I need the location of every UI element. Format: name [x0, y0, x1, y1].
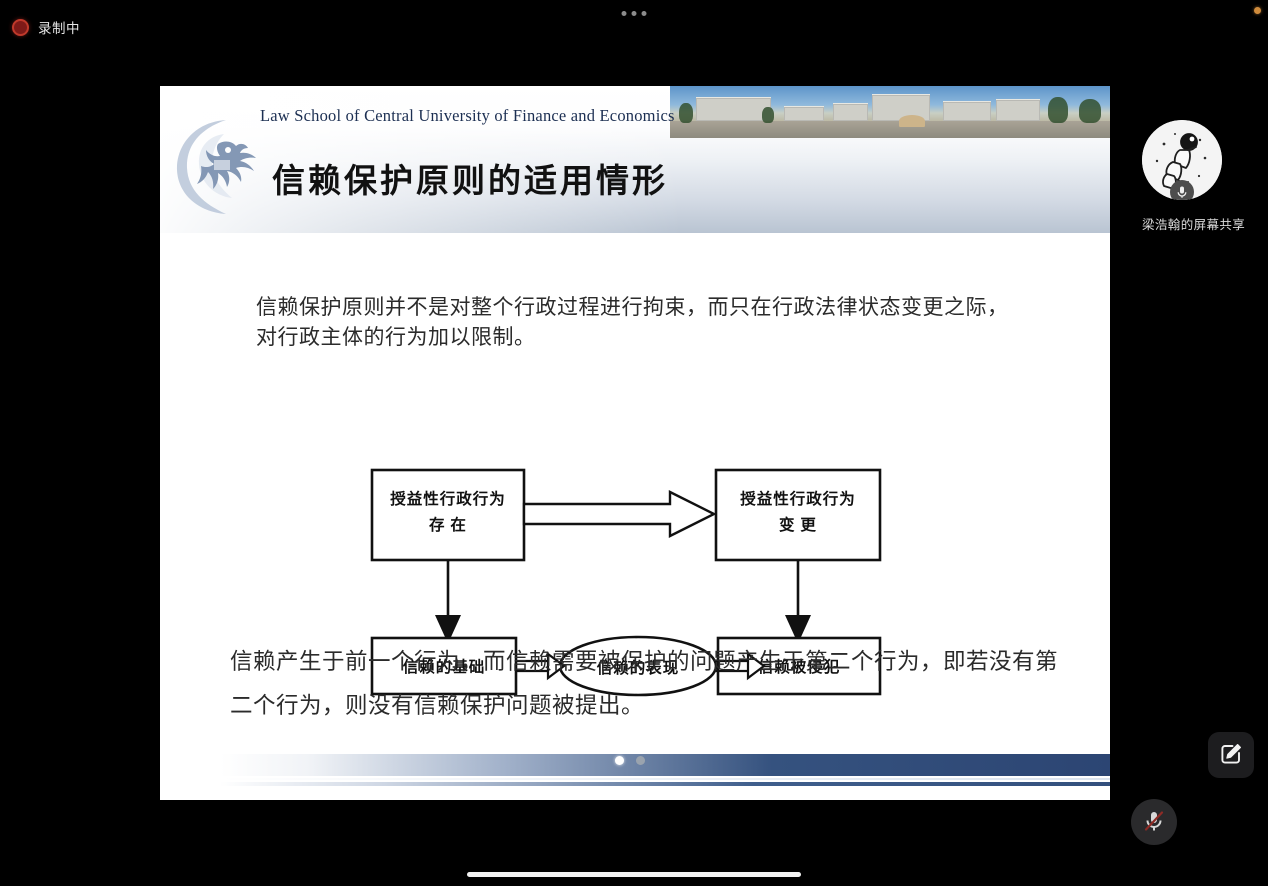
campus-monument [899, 115, 925, 127]
footer-hairline [220, 778, 1110, 780]
screen-share-card[interactable]: 梁浩翰的屏幕共享 [1142, 120, 1222, 233]
campus-building [996, 99, 1040, 122]
footer-line [220, 782, 1110, 786]
microphone-mute-button[interactable] [1131, 799, 1177, 845]
campus-panorama-photo [670, 86, 1110, 138]
recording-indicator: 录制中 [12, 17, 80, 37]
diagram-node-top-right [716, 470, 880, 560]
more-options-dots-icon[interactable] [618, 8, 651, 19]
screen-share-viewer: 录制中 Law Schoo [0, 0, 1268, 886]
dragon-crest-icon [174, 116, 270, 216]
paragraph-bottom: 信赖产生于前一个行为，而信赖需要被保护的问题产生于第二个行为，即若没有第二个行为… [230, 640, 1080, 728]
diagram-edge-block-arrow [524, 492, 714, 536]
astronaut-avatar-icon [1142, 120, 1222, 200]
school-name-line: Law School of Central University of Fina… [260, 106, 675, 126]
slide-page-dots [615, 756, 645, 765]
campus-tree [1079, 99, 1101, 123]
page-dot-inactive[interactable] [636, 756, 645, 765]
slide-header: Law School of Central University of Fina… [160, 86, 1110, 233]
campus-tree [1048, 97, 1068, 123]
annotate-button[interactable] [1208, 732, 1254, 778]
paragraph-top: 信赖保护原则并不是对整个行政过程进行拘束，而只在行政法律状态变更之际，对行政主体… [256, 293, 1016, 353]
node-label: 存 在 [429, 515, 467, 534]
footer-band [220, 754, 1110, 776]
pencil-annotate-icon [1219, 742, 1243, 769]
page-dot-active[interactable] [615, 756, 624, 765]
dot-1 [622, 11, 627, 16]
status-dot-icon [1254, 7, 1261, 14]
campus-building [784, 106, 824, 122]
share-owner-name: 梁浩翰的屏幕共享 [1142, 214, 1222, 233]
microphone-icon [1170, 180, 1194, 200]
node-label: 变 更 [779, 515, 817, 534]
node-label: 授益性行政行为 [390, 489, 506, 508]
campus-tree [679, 103, 693, 123]
node-label: 授益性行政行为 [740, 489, 856, 508]
slide-title: 信赖保护原则的适用情形 [272, 154, 668, 202]
dot-2 [632, 11, 637, 16]
dot-3 [642, 11, 647, 16]
slide-body: 信赖保护原则并不是对整个行政过程进行拘束，而只在行政法律状态变更之际，对行政主体… [160, 233, 1110, 800]
shared-slide[interactable]: Law School of Central University of Fina… [160, 86, 1110, 800]
slide-footer [160, 738, 1110, 800]
campus-building [833, 103, 868, 122]
campus-building [943, 101, 991, 122]
campus-ground [670, 121, 1110, 138]
recording-label: 录制中 [38, 17, 80, 37]
record-dot-icon [12, 19, 29, 36]
home-indicator-bar[interactable] [467, 872, 801, 877]
microphone-muted-icon [1141, 808, 1167, 837]
campus-building [696, 97, 771, 121]
diagram-node-top-left [372, 470, 524, 560]
campus-tree [762, 107, 774, 123]
